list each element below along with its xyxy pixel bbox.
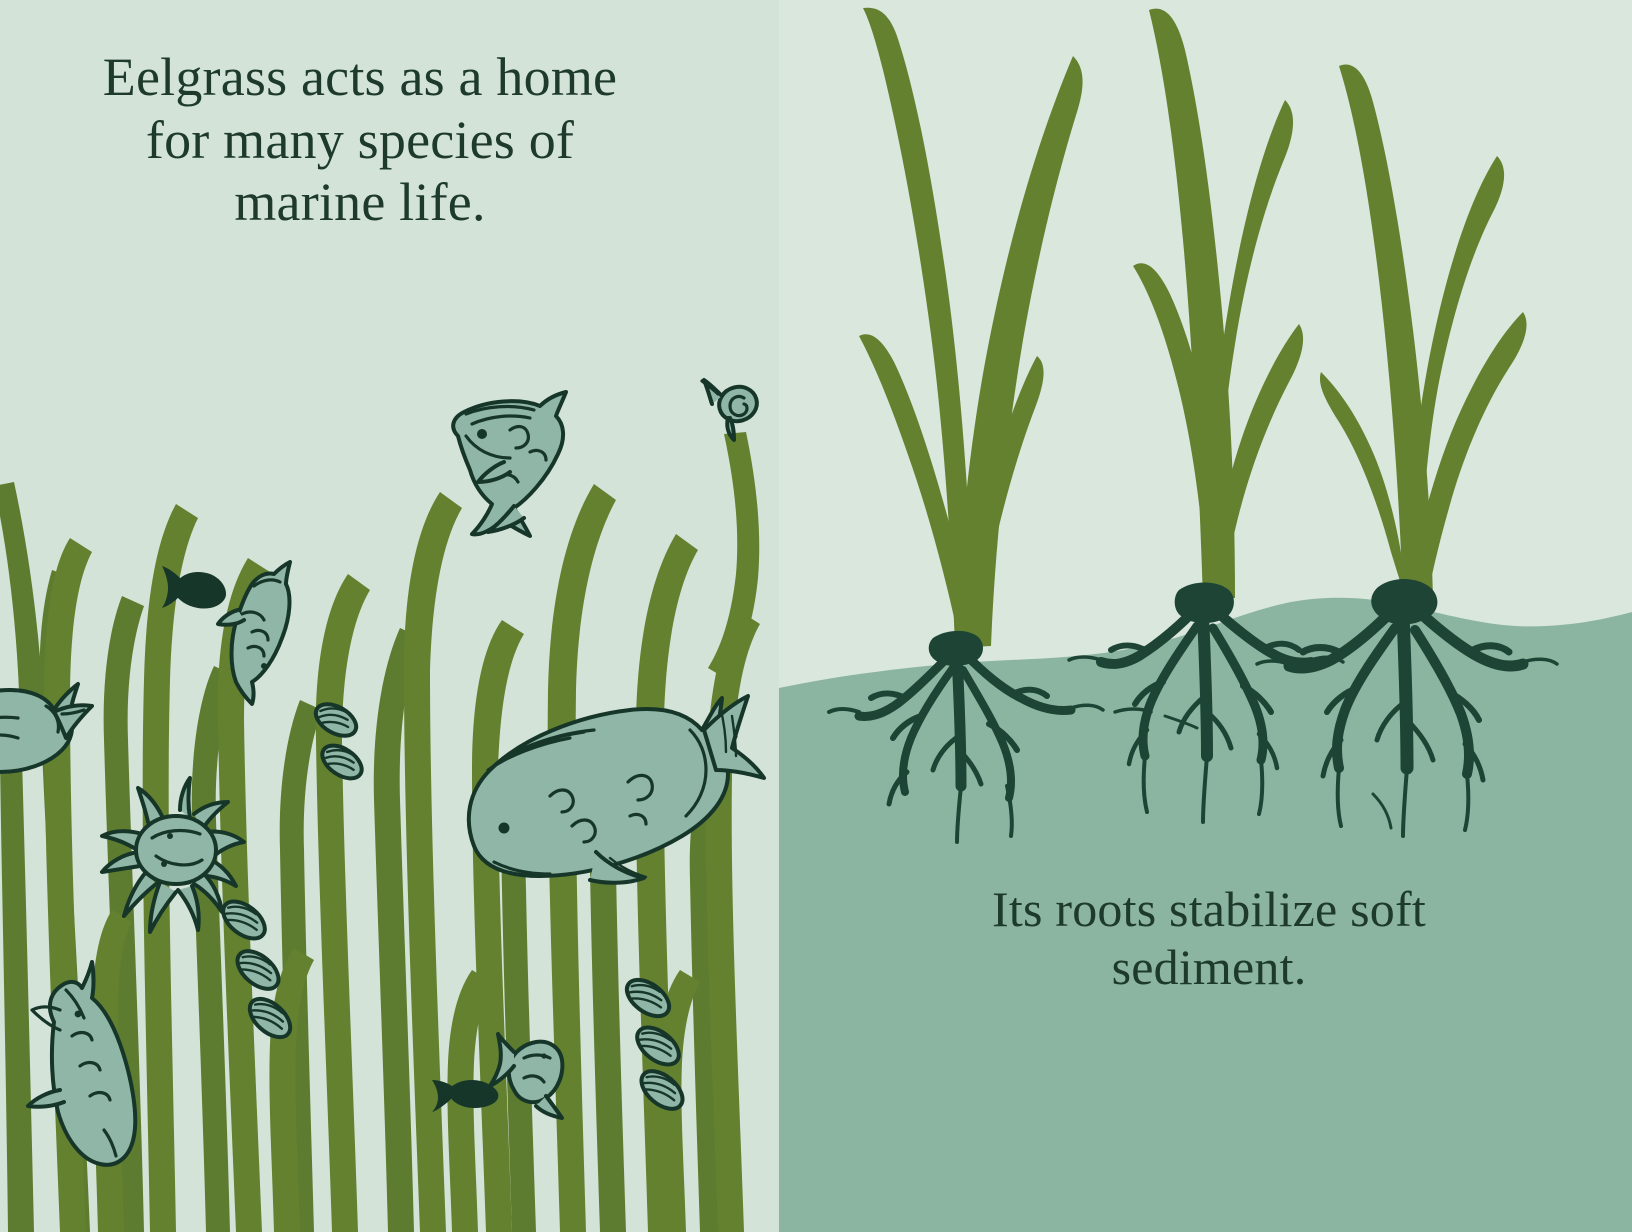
illustration-page: .blade{fill:#63812f;} .blade2{fill:#5d7c… [0, 0, 1632, 1232]
caption-line-1: Eelgrass acts as a home [40, 46, 680, 109]
caption-line-3: marine life. [40, 171, 680, 234]
caption-line-1: Its roots stabilize soft [819, 880, 1599, 938]
caption-line-2: for many species of [40, 109, 680, 172]
eelgrass-roots-panel: .rblade{fill:#63812f;} .root{fill:none;s… [779, 0, 1632, 1232]
left-panel-caption: Eelgrass acts as a home for many species… [40, 46, 680, 234]
right-panel-caption: Its roots stabilize soft sediment. [819, 880, 1599, 996]
roots-artwork: .rblade{fill:#63812f;} .root{fill:none;s… [779, 0, 1632, 1232]
caption-line-2: sediment. [819, 938, 1599, 996]
eelgrass-habitat-panel: .blade{fill:#63812f;} .blade2{fill:#5d7c… [0, 0, 779, 1232]
